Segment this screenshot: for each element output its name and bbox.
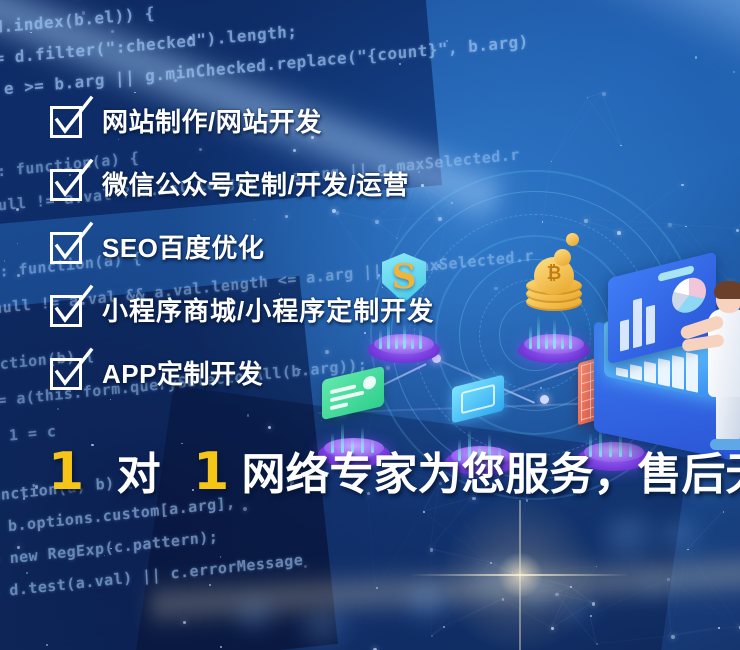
particle-dot — [443, 626, 445, 628]
particle-dot — [512, 572, 513, 573]
constellation-line — [596, 635, 671, 644]
bokeh-circle — [640, 575, 674, 601]
constellation-line — [422, 511, 489, 563]
particle-dot — [46, 644, 48, 646]
constellation-line — [551, 566, 597, 628]
particle-dot — [723, 511, 725, 513]
constellation-line — [511, 572, 570, 587]
light-beam — [149, 540, 740, 630]
constellation-line — [667, 578, 740, 626]
checkbox-checked-icon[interactable] — [52, 232, 84, 264]
checkbox-checked-icon[interactable] — [52, 358, 84, 390]
particle-dot — [733, 71, 735, 73]
constellation-line — [375, 511, 423, 588]
checklist-item-wechat[interactable]: 微信公众号定制/开发/运营 — [52, 161, 712, 209]
particle-dot — [502, 598, 505, 601]
constellation-line — [431, 562, 490, 636]
particle-dot — [242, 70, 245, 73]
particle-dot — [602, 92, 606, 96]
constellation-line — [431, 598, 502, 636]
particle-dot — [243, 507, 247, 511]
particle-dot — [30, 32, 32, 34]
constellation-line — [502, 598, 552, 628]
constellation-line — [670, 549, 687, 636]
constellation-line — [502, 586, 570, 599]
particle-dot — [181, 443, 183, 445]
checklist-item-label: 网站制作/网站开发 — [102, 109, 322, 135]
particle-dot — [35, 485, 39, 489]
checklist-item-app[interactable]: APP定制开发 — [52, 350, 712, 398]
particle-dot — [268, 426, 271, 429]
checklist-item-label: 小程序商城/小程序定制开发 — [102, 298, 434, 324]
constellation-line — [724, 281, 731, 350]
constellation-line — [429, 549, 431, 636]
constellation-line — [667, 579, 672, 636]
headline-middle-word: 对 — [117, 453, 161, 497]
constellation-line — [399, 40, 446, 64]
particle-dot — [232, 66, 234, 68]
headline-slogan: 1 对 1 网络专家为您服务，售后无忧！ — [48, 446, 740, 498]
constellation-line — [671, 627, 719, 636]
checklist-item-miniapp[interactable]: 小程序商城/小程序定制开发 — [52, 287, 712, 335]
particle-dot — [209, 584, 211, 586]
particle-dot — [431, 635, 433, 637]
particle-dot — [667, 578, 670, 581]
particle-dot — [423, 511, 425, 513]
constellation-line — [431, 626, 443, 636]
headline-tail-text: 网络专家为您服务，售后无忧！ — [242, 453, 740, 497]
bokeh-circle — [235, 600, 281, 634]
background-code-bottom: unction(a, b) { = b.options.custom[a.arg… — [0, 391, 740, 650]
bokeh-circle — [470, 560, 532, 604]
particle-dot — [695, 56, 697, 58]
particle-dot — [555, 593, 559, 597]
particle-dot — [730, 281, 733, 284]
constellation-line — [489, 562, 511, 573]
particle-dot — [17, 243, 18, 244]
constellation-line — [429, 548, 489, 563]
code-line: = new RegExp(c.pattern); — [0, 527, 219, 569]
particle-dot — [446, 40, 448, 42]
checklist-item-website[interactable]: 网站制作/网站开发 — [52, 98, 712, 146]
particle-dot — [189, 36, 193, 40]
bokeh-circle — [520, 575, 564, 607]
code-line: e = d.filter(":checked").length; — [0, 21, 298, 69]
particle-dot — [490, 562, 492, 564]
particle-dot — [430, 548, 434, 552]
constellation-line — [429, 497, 472, 549]
constellation-line — [429, 548, 511, 573]
particle-dot — [590, 414, 592, 416]
constellation-line — [687, 511, 723, 549]
particle-dot — [134, 92, 135, 93]
constellation-line — [590, 615, 597, 643]
constellation-line — [555, 593, 591, 603]
code-line: rn e >= b.arg || g.minChecked.replace("{… — [0, 32, 529, 102]
bokeh-circle — [300, 610, 358, 650]
particle-dot — [718, 627, 720, 629]
particle-dot — [551, 627, 554, 630]
constellation-line — [687, 549, 740, 627]
constellation-line — [590, 578, 668, 616]
particle-dot — [104, 581, 105, 582]
code-line: a.elements("input[type=checkbox]"), -1 <… — [74, 0, 481, 4]
bokeh-circle — [405, 585, 457, 623]
bokeh-circle — [560, 600, 600, 628]
constellation-line — [551, 602, 592, 628]
particle-dot — [590, 615, 592, 617]
bokeh-circle — [660, 520, 708, 554]
background-slab — [132, 385, 689, 650]
particle-dot — [110, 548, 112, 550]
constellation-line — [511, 500, 526, 573]
particle-dot — [183, 621, 186, 624]
particle-dot — [104, 555, 106, 557]
checklist-item-label: 微信公众号定制/开发/运营 — [102, 172, 409, 198]
particle-dot — [596, 566, 597, 567]
particle-dot — [596, 643, 598, 645]
particle-dot — [376, 587, 378, 589]
headline-number-first: 1 — [48, 446, 84, 498]
particle-dot — [220, 646, 222, 648]
particle-dot — [220, 556, 222, 558]
constellation-line — [555, 586, 570, 594]
constellation-line — [671, 626, 740, 636]
constellation-line — [367, 492, 376, 587]
particle-dot — [17, 274, 20, 277]
particle-dot — [687, 549, 688, 550]
particle-dot — [724, 350, 726, 352]
constellation-line — [502, 598, 592, 603]
constellation-line — [555, 593, 596, 643]
promo-banner: a.elements("input[type=checkbox]"), -1 <… — [0, 0, 740, 650]
particle-dot — [174, 79, 177, 82]
checklist-item-seo[interactable]: SEO百度优化 — [52, 224, 712, 272]
code-line: = d.index(b.el)) { — [0, 3, 155, 39]
constellation-line — [442, 598, 501, 626]
particle-dot — [736, 229, 740, 233]
lens-flare — [430, 485, 610, 650]
particle-dot — [592, 602, 596, 606]
particle-dot — [399, 63, 401, 65]
particle-dot — [16, 208, 19, 211]
particle-dot — [23, 497, 26, 500]
constellation-line — [489, 562, 570, 587]
headline-number-second: 1 — [193, 446, 229, 498]
particle-dot — [304, 565, 307, 568]
particle-dot — [321, 420, 322, 421]
bokeh-circle — [600, 515, 670, 563]
particle-dot — [526, 499, 528, 501]
service-checklist: 网站制作/网站开发 微信公众号定制/开发/运营 SEO百度优化 — [52, 98, 712, 413]
particle-dot — [17, 546, 20, 549]
particle-dot — [82, 11, 86, 15]
checkbox-checked-icon[interactable] — [52, 106, 84, 138]
code-line: n d.test(a.val) || c.errorMessage — [0, 551, 304, 602]
constellation-line — [512, 566, 597, 573]
checklist-item-label: APP定制开发 — [102, 361, 263, 387]
particle-dot — [247, 414, 250, 417]
checkbox-checked-icon[interactable] — [52, 295, 84, 327]
constellation-line — [570, 586, 592, 603]
particle-dot — [671, 635, 675, 639]
checkbox-checked-icon[interactable] — [52, 169, 84, 201]
constellation-line — [511, 572, 591, 603]
particle-dot — [4, 260, 5, 261]
constellation-line — [551, 586, 571, 628]
particle-dot — [111, 30, 114, 33]
particle-dot — [570, 586, 572, 588]
particle-dot — [26, 572, 28, 574]
checklist-item-label: SEO百度优化 — [102, 235, 264, 261]
